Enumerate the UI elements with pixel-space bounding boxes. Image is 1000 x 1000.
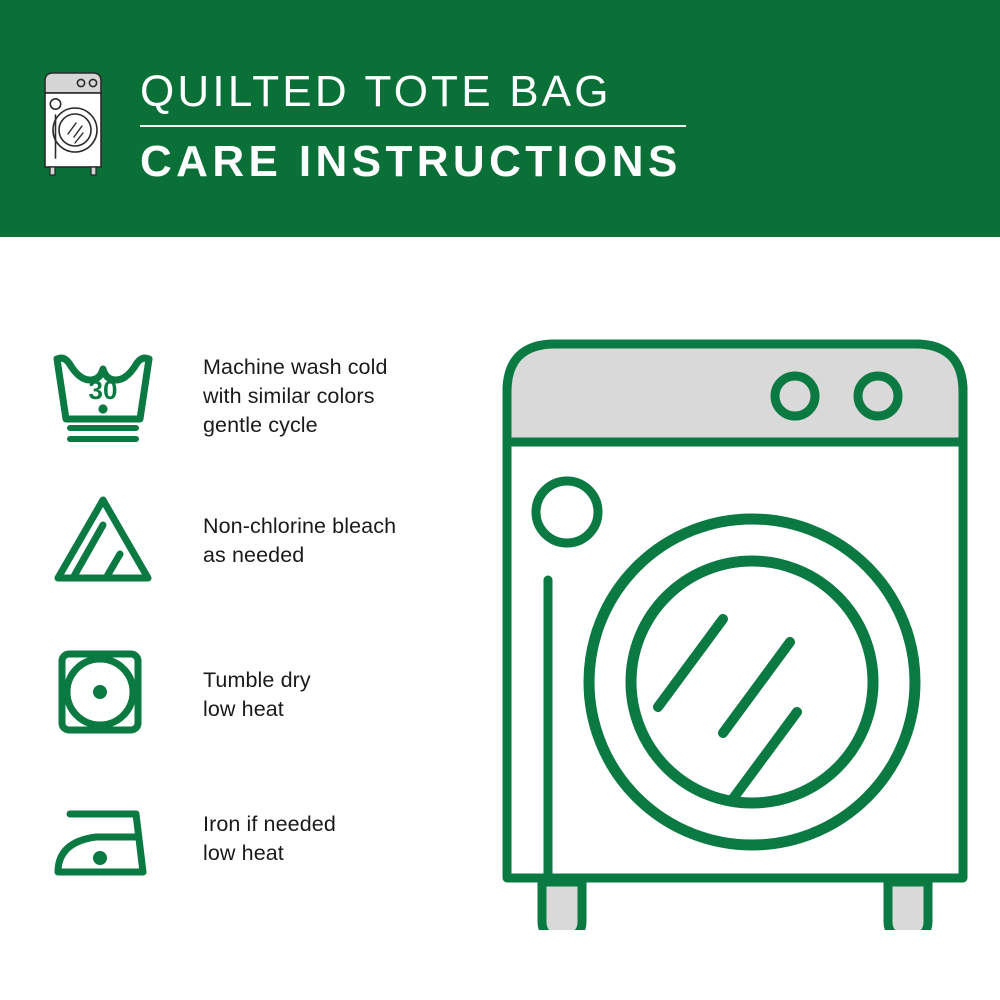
header-text-block: QUILTED TOTE BAG CARE INSTRUCTIONS bbox=[140, 66, 740, 188]
page-subtitle: CARE INSTRUCTIONS bbox=[140, 136, 740, 188]
iron-low-heat-icon bbox=[48, 792, 158, 892]
wash-tub-30-gentle-icon: 30 bbox=[48, 347, 158, 447]
tumble-dry-low-heat-icon bbox=[48, 642, 158, 742]
leg-left bbox=[542, 882, 582, 930]
washing-machine-illustration bbox=[495, 330, 975, 930]
leg-right bbox=[888, 882, 928, 930]
care-item-machine-wash: 30 Machine wash cold with similar colors… bbox=[48, 347, 468, 447]
care-item-tumble-dry: Tumble dry low heat bbox=[48, 642, 468, 742]
care-instructions-list: 30 Machine wash cold with similar colors… bbox=[0, 237, 480, 1000]
washing-machine-icon bbox=[42, 68, 104, 178]
non-chlorine-bleach-triangle-icon bbox=[48, 490, 158, 590]
care-instructions-page: QUILTED TOTE BAG CARE INSTRUCTIONS 30 bbox=[0, 0, 1000, 1000]
care-item-iron: Iron if needed low heat bbox=[48, 792, 468, 892]
page-title: QUILTED TOTE BAG bbox=[140, 66, 740, 118]
title-divider bbox=[140, 125, 686, 127]
care-item-bleach: Non-chlorine bleach as needed bbox=[48, 490, 468, 590]
care-item-label: Tumble dry low heat bbox=[158, 642, 311, 724]
wash-temp-label: 30 bbox=[89, 375, 118, 405]
header-band: QUILTED TOTE BAG CARE INSTRUCTIONS bbox=[0, 0, 1000, 237]
care-item-label: Machine wash cold with similar colors ge… bbox=[158, 347, 388, 440]
care-item-label: Non-chlorine bleach as needed bbox=[158, 490, 396, 570]
care-item-label: Iron if needed low heat bbox=[158, 792, 336, 868]
